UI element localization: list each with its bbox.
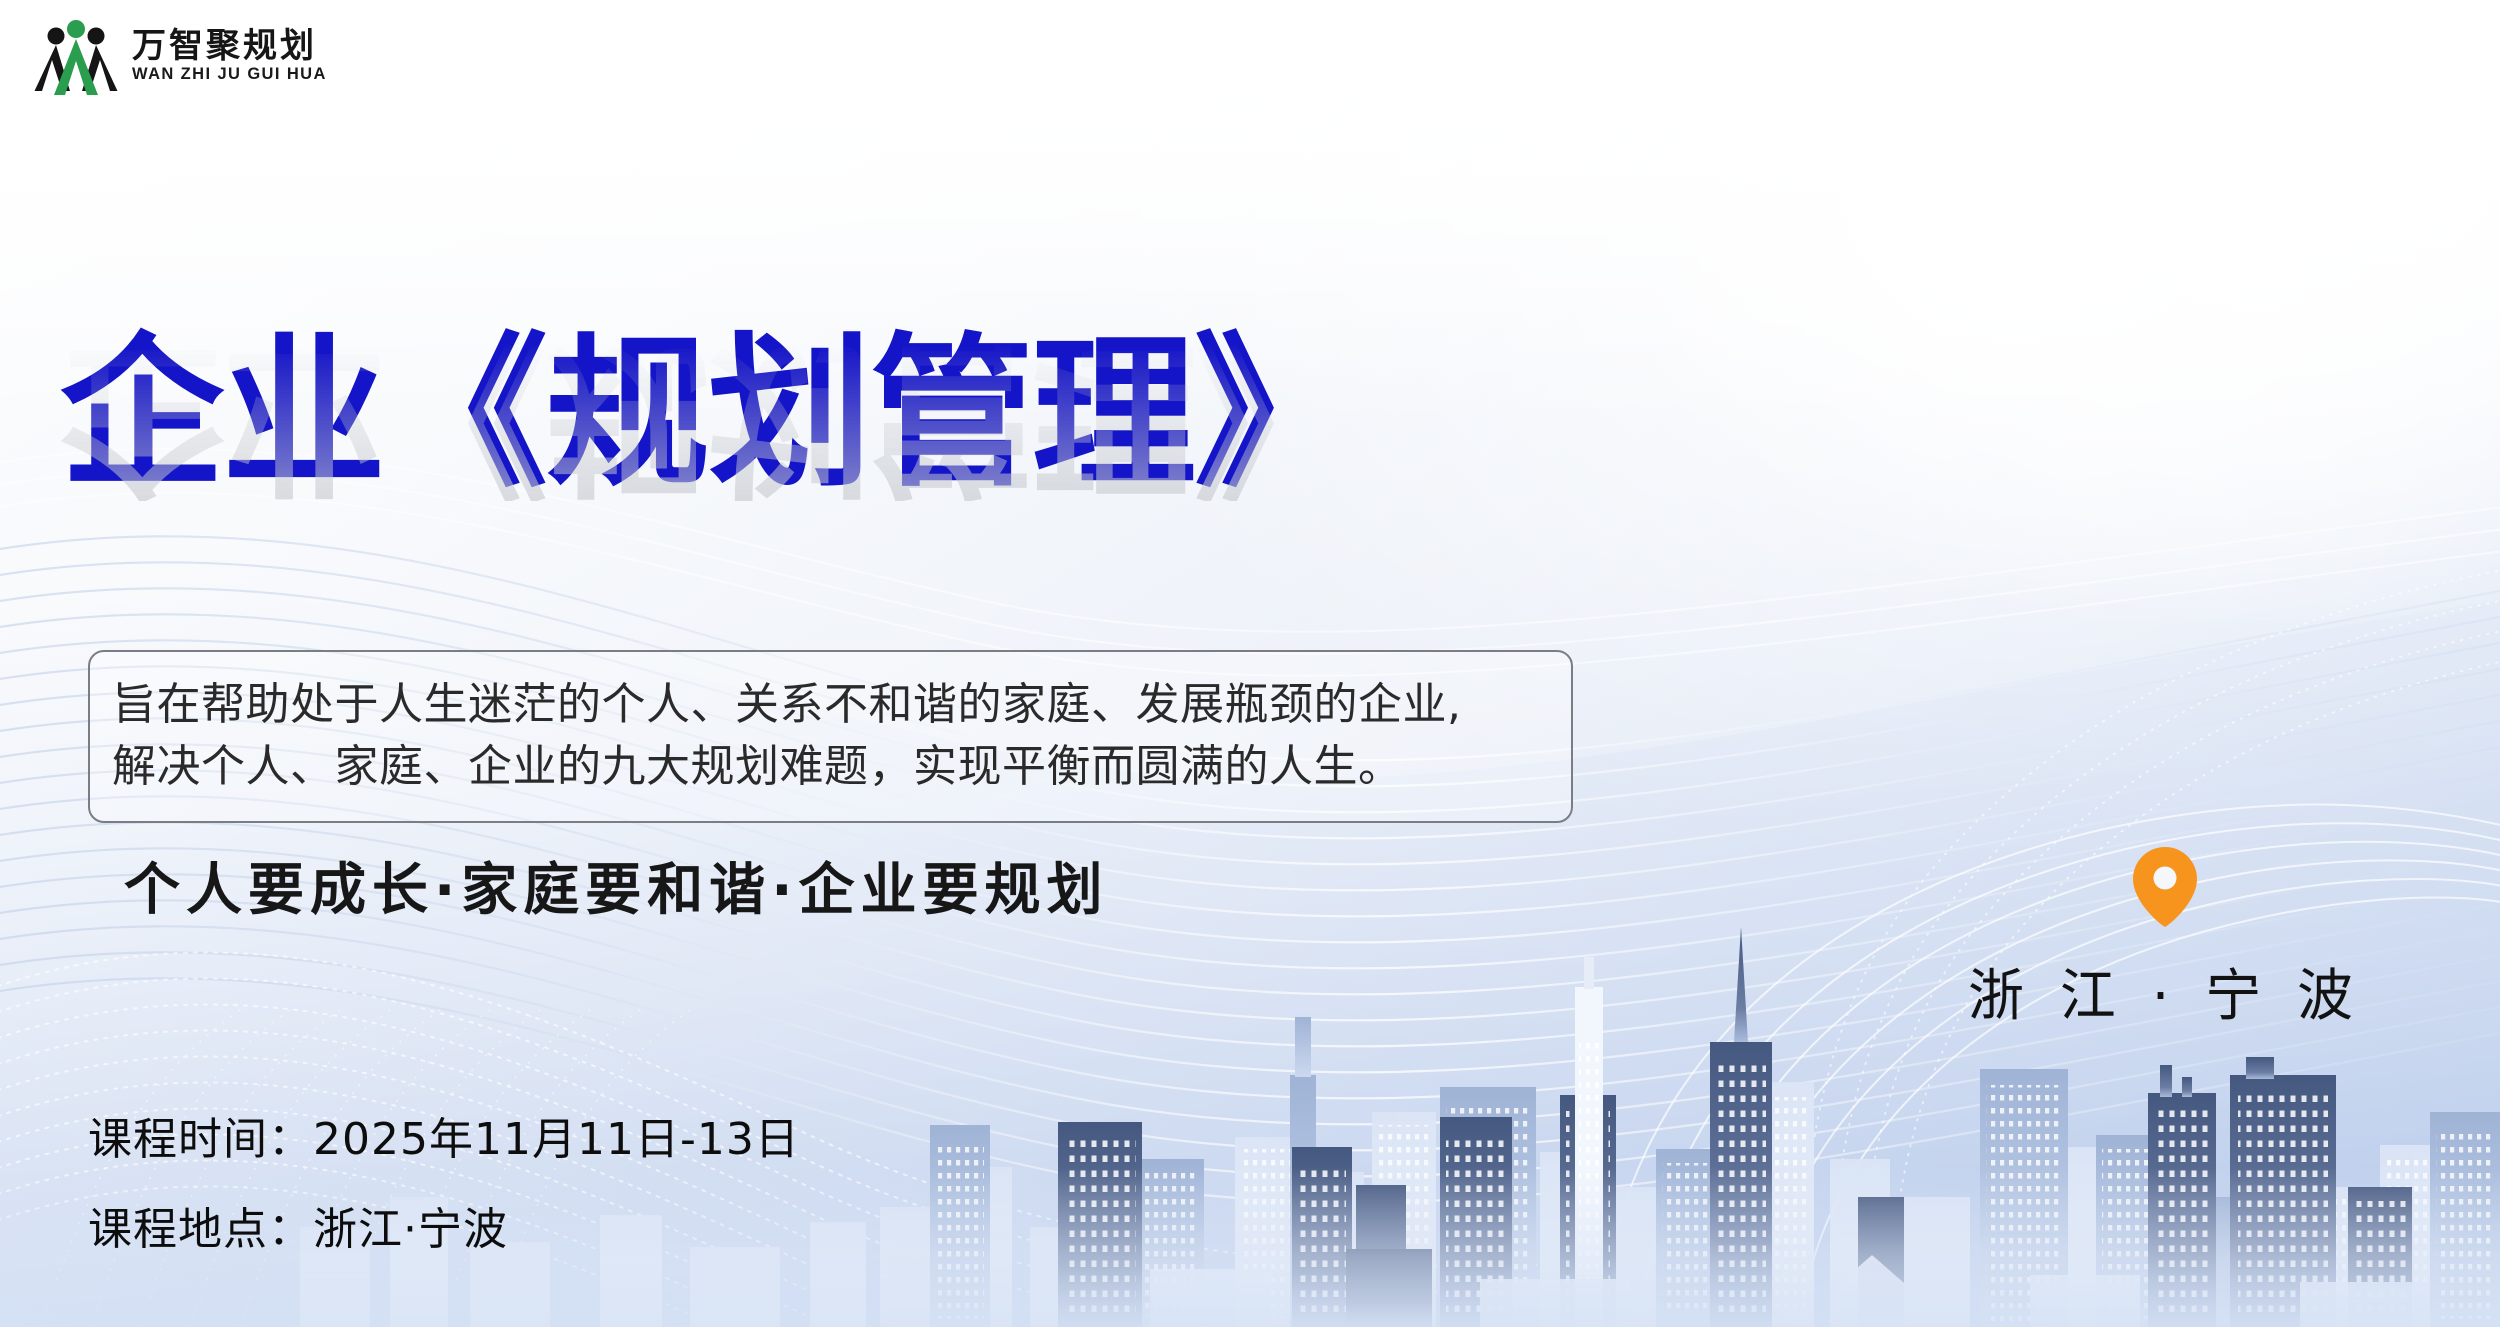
course-place: 课程地点：浙江·宁波 bbox=[88, 1208, 800, 1252]
page-title-reflection: 企业《规划管理》 bbox=[60, 334, 1356, 501]
right-fade-overlay bbox=[1600, 0, 2500, 620]
description-box: 旨在帮助处于人生迷茫的个人、关系不和谐的家庭、发展瓶颈的企业, 解决个人、家庭、… bbox=[88, 650, 1573, 823]
brand-logo[interactable]: 万智聚规划 WAN ZHI JU GUI HUA bbox=[34, 16, 327, 96]
description-line-1: 旨在帮助处于人生迷茫的个人、关系不和谐的家庭、发展瓶颈的企业, bbox=[112, 674, 1545, 736]
hero-tagline: 个人要成长·家庭要和谐·企业要规划 bbox=[124, 845, 1109, 926]
location-badge: 浙 江 · 宁 波 bbox=[1955, 845, 2375, 1032]
map-pin-icon bbox=[2132, 845, 2198, 929]
hero-title-block: 企业《规划管理》 企业《规划管理》 bbox=[60, 330, 1356, 669]
three-people-logo-icon bbox=[34, 16, 118, 96]
poster-canvas: 万智聚规划 WAN ZHI JU GUI HUA 企业《规划管理》 企业《规划管… bbox=[0, 0, 2500, 1327]
brand-name-cn: 万智聚规划 bbox=[132, 29, 327, 65]
course-time: 课程时间：2025年11月11日-13日 bbox=[88, 1118, 800, 1162]
description-line-2: 解决个人、家庭、企业的九大规划难题，实现平衡而圆满的人生。 bbox=[112, 736, 1545, 798]
course-info: 课程时间：2025年11月11日-13日 课程地点：浙江·宁波 bbox=[88, 1118, 800, 1252]
brand-name-en: WAN ZHI JU GUI HUA bbox=[132, 66, 327, 83]
location-name: 浙 江 · 宁 波 bbox=[1968, 951, 2362, 1032]
